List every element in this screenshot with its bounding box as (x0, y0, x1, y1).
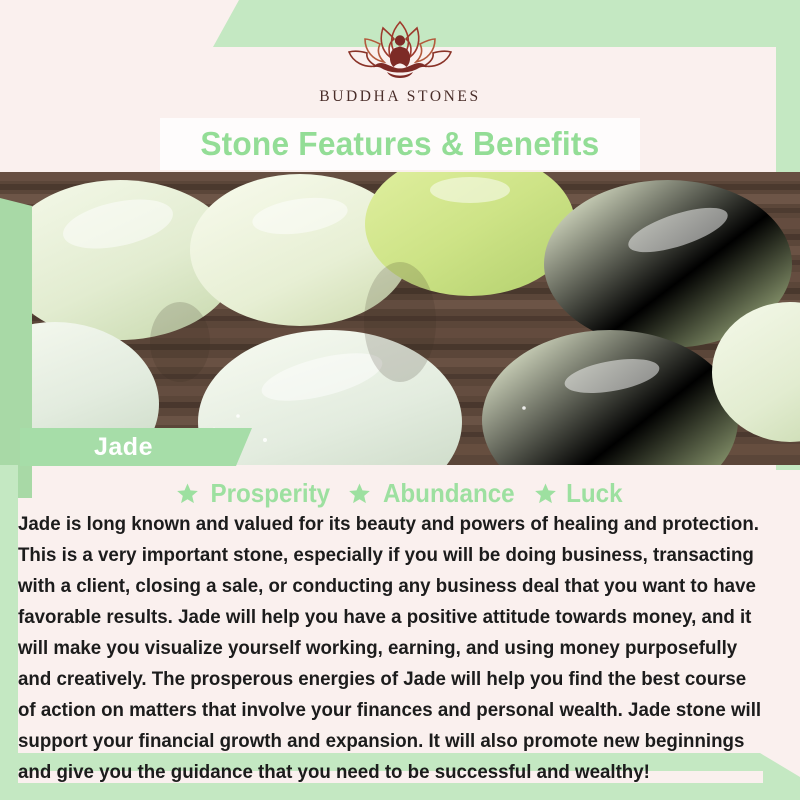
keyword-item-luck: Luck (534, 478, 625, 509)
brand-logo: BUDDHA STONES (0, 18, 800, 118)
keyword-item-prosperity: Prosperity (176, 478, 335, 509)
keyword-label: Luck (566, 478, 622, 509)
star-icon (348, 482, 371, 505)
star-icon (534, 482, 557, 505)
page-title: Stone Features & Benefits (200, 125, 599, 163)
lotus-meditation-icon (325, 18, 475, 84)
stone-name-banner: Jade (20, 428, 252, 466)
keyword-item-abundance: Abundance (348, 478, 520, 509)
stone-description: Jade is long known and valued for its be… (18, 509, 763, 788)
star-icon (176, 482, 199, 505)
keyword-label: Prosperity (210, 478, 330, 509)
keyword-list: Prosperity Abundance Luck (0, 478, 800, 509)
brand-name: BUDDHA STONES (319, 88, 480, 106)
stone-photo (0, 172, 800, 465)
header-banner: Stone Features & Benefits (160, 118, 640, 170)
decor-band-left-lower (0, 465, 18, 783)
keyword-label: Abundance (383, 478, 515, 509)
poster-root: BUDDHA STONES Stone Features & Benefits (0, 0, 800, 800)
stone-name: Jade (94, 433, 153, 462)
